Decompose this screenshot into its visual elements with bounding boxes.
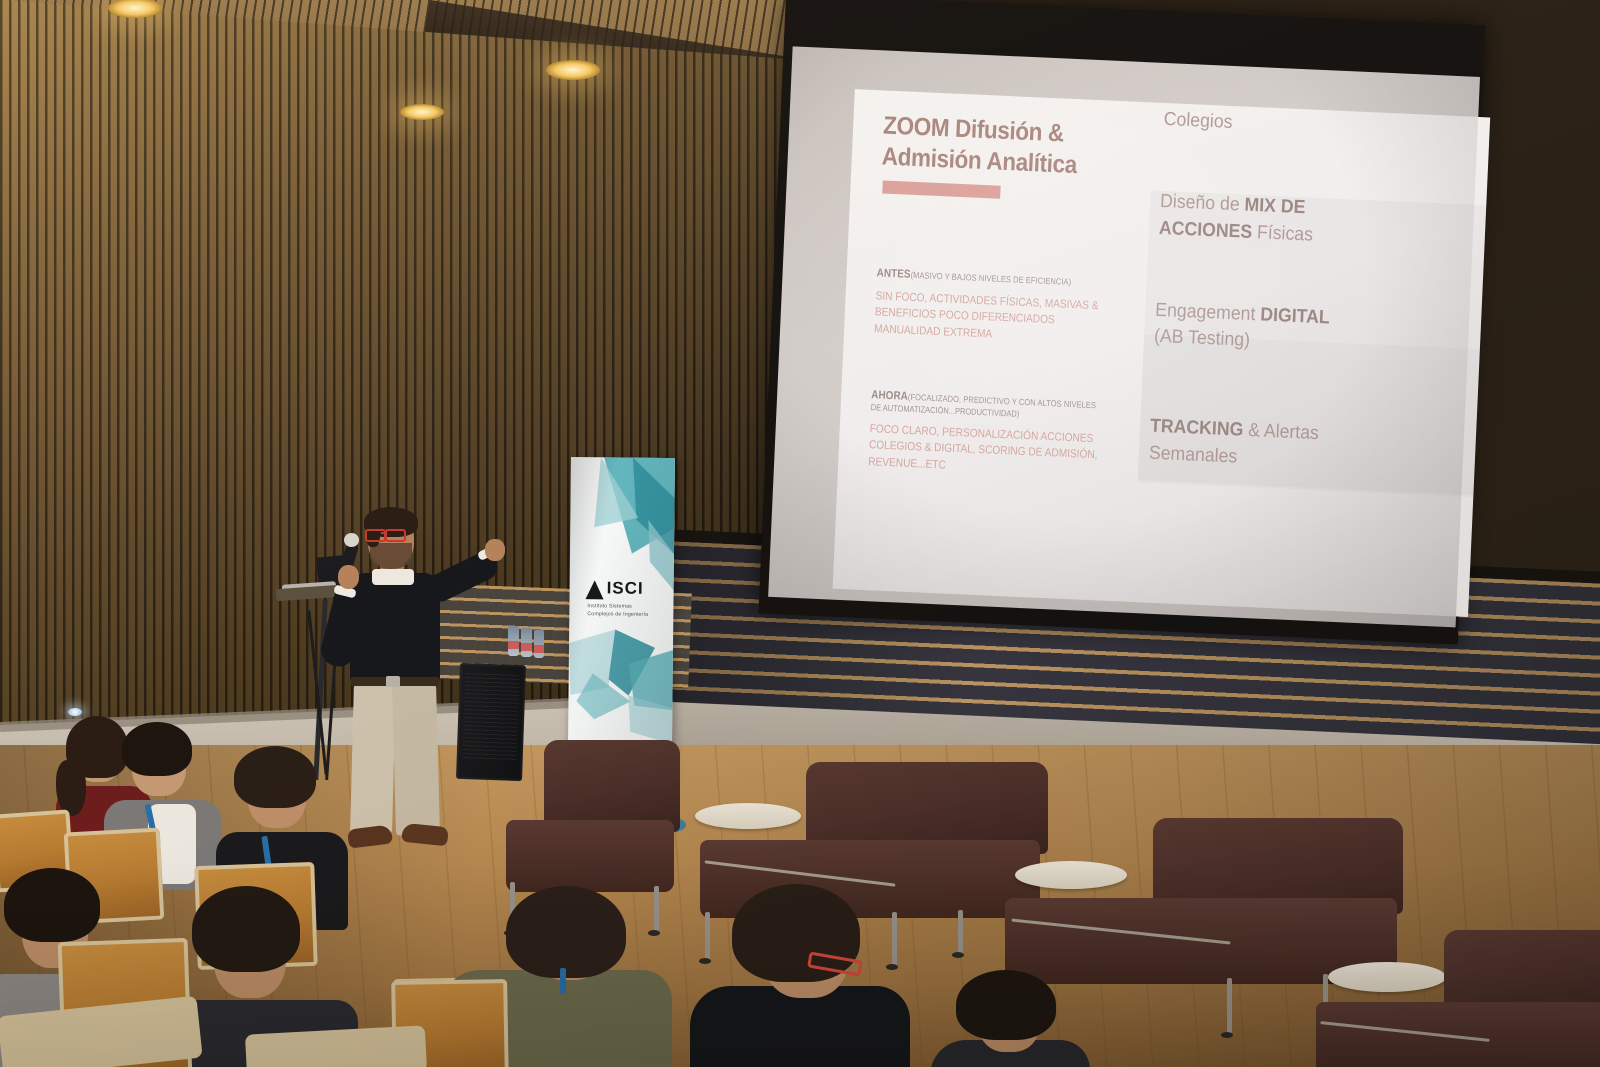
auditorium-presentation-scene: ZOOM Difusión & Admisión Analítica ANTES… [0, 0, 1600, 1067]
attendee-ponytail-hair [56, 760, 86, 816]
attendee-hair [192, 886, 300, 972]
right-item-2-rest: Diseño de [1160, 191, 1245, 216]
right-item-1-rest: de [1308, 89, 1333, 111]
bench-foot [952, 952, 964, 958]
presentation-slide: ZOOM Difusión & Admisión Analítica ANTES… [833, 89, 1491, 617]
presenter-speaking [320, 505, 520, 860]
right-item-4-bold: TRACKING [1150, 416, 1244, 441]
slide-body-ahora: FOCO CLARO, PERSONALIZACIÓN ACCIONES COL… [868, 421, 1101, 480]
bench-leg [1227, 978, 1232, 1034]
right-item-2-line2-rest: Físicas [1252, 222, 1314, 246]
right-item-4-rest: & Alertas [1243, 420, 1319, 444]
kicker-word-antes: ANTES [876, 267, 910, 280]
right-item-3-bold: DIGITAL [1260, 304, 1330, 328]
right-item-2-bold: MIX DE [1244, 195, 1306, 219]
right-item-4-line2: Semanales [1148, 442, 1237, 467]
attendee-hair [506, 886, 626, 978]
right-item-3-rest: Engagement [1155, 300, 1261, 326]
attendee-black-jacket-glasses [690, 882, 900, 1067]
chair-seat [506, 820, 674, 892]
microphone-head-icon [344, 533, 359, 547]
slide-kicker-antes: ANTES(MASIVO Y BAJOS NIVELES DE EFICIENC… [876, 267, 1102, 289]
downlight-3 [400, 104, 444, 120]
presenter-belt-buckle [386, 676, 400, 687]
presenter-hand-left [338, 565, 359, 589]
slide-body-antes: SIN FOCO, ACTIVIDADES FÍSICAS, MASIVAS &… [874, 288, 1107, 347]
kicker-paren-antes: (MASIVO Y BAJOS NIVELES DE EFICIENCIA) [910, 270, 1071, 287]
banner-shading [568, 457, 675, 776]
attendee-front-right [930, 970, 1080, 1067]
isci-rollup-banner: ISCI Instituto Sistemas Complejos de Ing… [568, 457, 675, 776]
attendee-hair [234, 746, 316, 808]
slide-title-underline [882, 180, 1000, 198]
bench-seat [1316, 1002, 1600, 1067]
leather-bench-3[interactable] [1316, 930, 1600, 1067]
projection-surface: ZOOM Difusión & Admisión Analítica ANTES… [768, 46, 1480, 627]
downlight-2 [546, 60, 600, 80]
bottle-label [534, 645, 544, 653]
bench-foot [1221, 1032, 1233, 1038]
red-eyeglasses-lens-left [365, 529, 386, 542]
round-side-table-1 [695, 803, 801, 829]
attendee-hair [956, 970, 1056, 1040]
red-eyeglasses-bridge [381, 532, 387, 534]
presenter-shoe-right [401, 823, 449, 847]
right-item-2-line2-bold: ACCIONES [1158, 217, 1252, 242]
right-item-3-line2: (AB Testing) [1154, 326, 1251, 351]
attendee-hair [4, 868, 100, 942]
attendee-hair [122, 722, 192, 776]
bottle-label [521, 643, 532, 651]
presenter-leg-left [350, 682, 396, 833]
slide-left-column: ZOOM Difusión & Admisión Analítica ANTES… [868, 110, 1146, 481]
presenter-leg-right [392, 682, 440, 835]
slide-block-ahora: AHORA(FOCALIZADO, PREDICTIVO Y CON ALTOS… [868, 389, 1133, 482]
slide-right-column: PERFILAMIENTO de Colegios Diseño de MIX … [1148, 89, 1490, 481]
lanyard [560, 968, 566, 994]
water-bottle-2 [521, 628, 532, 657]
chair-backrest [544, 740, 680, 832]
right-item-1-bold: PERFILAMIENTO [1164, 89, 1309, 110]
red-eyeglasses-lens-right [385, 529, 406, 542]
slide-block-antes: ANTES(MASIVO Y BAJOS NIVELES DE EFICIENC… [874, 267, 1139, 349]
projection-screen[interactable]: ZOOM Difusión & Admisión Analítica ANTES… [758, 0, 1485, 645]
attendee-body [690, 986, 910, 1067]
presenter-shirt-collar [372, 569, 414, 585]
presenter-beard [370, 543, 412, 569]
water-bottle-3 [534, 630, 544, 658]
right-item-1-line2: Colegios [1163, 109, 1233, 133]
presenter-hand-right [485, 539, 505, 561]
presenter-shoe-left [347, 824, 393, 848]
kicker-word-ahora: AHORA [871, 389, 908, 403]
bench-leg [958, 910, 963, 954]
